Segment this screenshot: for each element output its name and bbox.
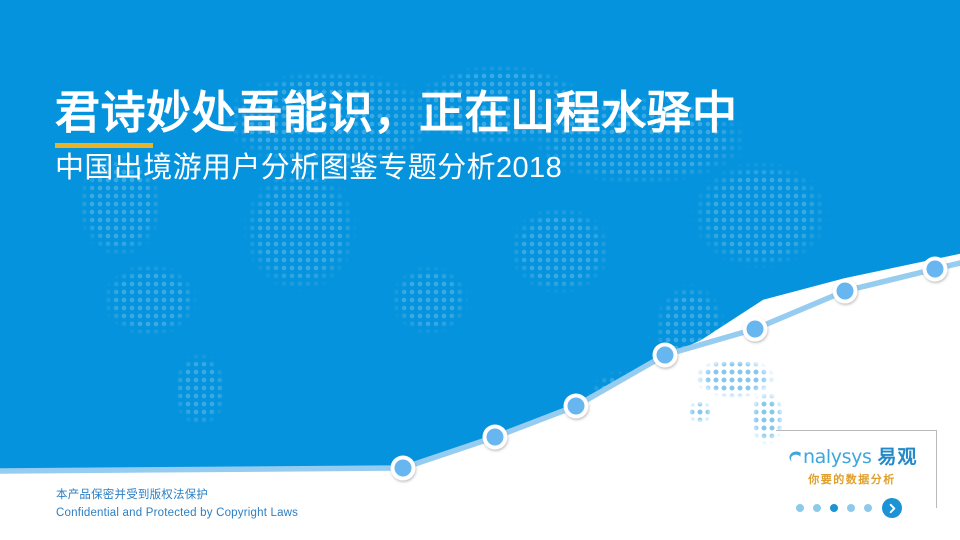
next-slide-button[interactable] [882, 498, 902, 518]
pager-dot[interactable] [813, 504, 821, 512]
copyright-notice: 本产品保密并受到版权法保护 Confidential and Protected… [56, 487, 298, 523]
presentation-slide: 君诗妙处吾能识，正在山程水驿中 中国出境游用户分析图鉴专题分析2018 本产品保… [0, 0, 960, 540]
brand-block: nalysys 易观 你要的数据分析 [776, 430, 960, 540]
curve-marker-dot [747, 321, 764, 338]
logo-wordmark-cn: 易观 [877, 442, 917, 469]
curve-marker-dot [927, 261, 944, 278]
pager-dot-active[interactable] [830, 504, 838, 512]
brand-divider-horizontal [776, 430, 936, 431]
page-title: 君诗妙处吾能识，正在山程水驿中 [55, 86, 875, 139]
pager-dot[interactable] [796, 504, 804, 512]
slide-pager[interactable] [796, 498, 902, 518]
logo-tagline: 你要的数据分析 [788, 471, 916, 487]
copyright-chinese: 本产品保密并受到版权法保护 [56, 487, 298, 505]
curve-marker-ring [743, 317, 768, 342]
pager-dot[interactable] [864, 504, 872, 512]
logo-wordmark-row: nalysys 易观 [788, 442, 928, 469]
logo-wordmark-en: nalysys [788, 446, 871, 468]
logo-swoosh-icon [788, 450, 803, 465]
logo-text: nalysys [803, 446, 871, 468]
copyright-english: Confidential and Protected by Copyright … [56, 505, 298, 523]
curve-marker-ring [833, 279, 858, 304]
brand-divider-vertical [936, 430, 937, 508]
chevron-right-icon [887, 503, 898, 514]
curve-marker-dot [837, 283, 854, 300]
page-subtitle: 中国出境游用户分析图鉴专题分析2018 [55, 150, 875, 188]
pager-dot[interactable] [847, 504, 855, 512]
analysys-logo: nalysys 易观 你要的数据分析 [788, 442, 928, 487]
title-underline-rule [55, 143, 153, 148]
title-block: 君诗妙处吾能识，正在山程水驿中 中国出境游用户分析图鉴专题分析2018 [55, 86, 875, 188]
